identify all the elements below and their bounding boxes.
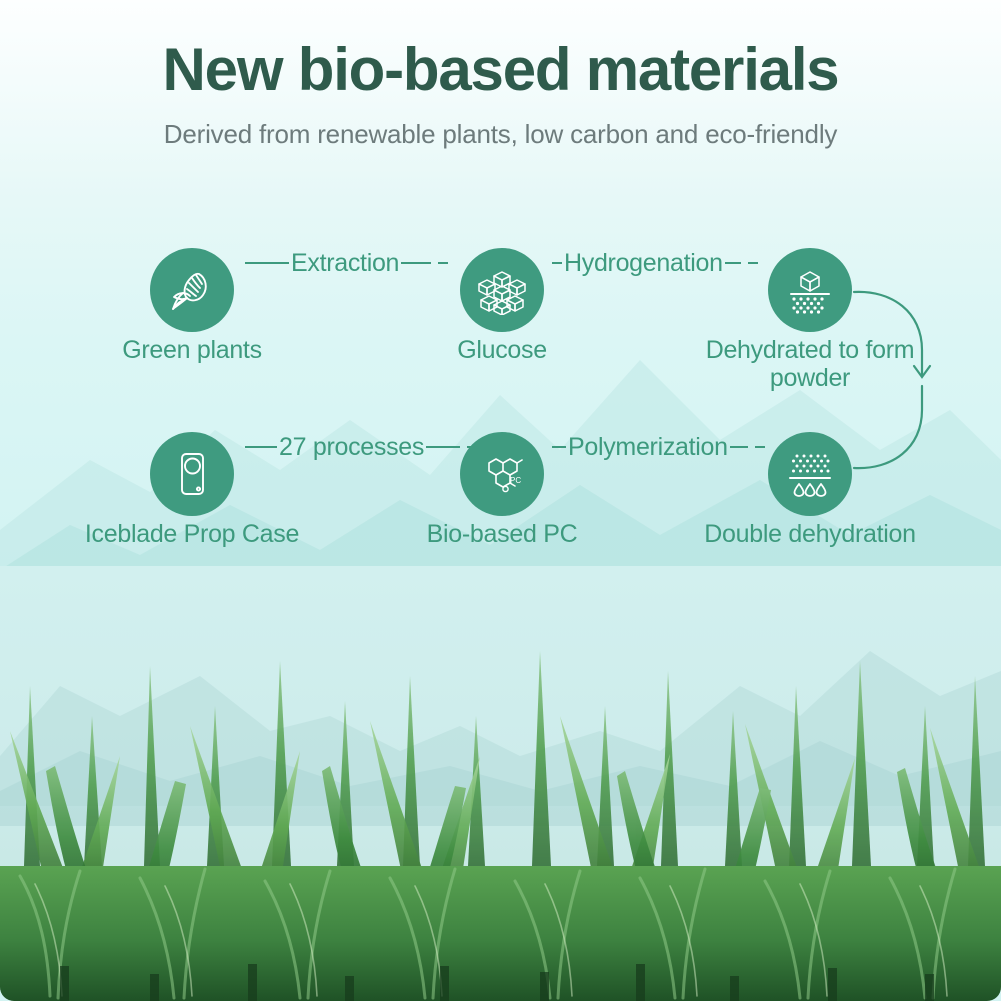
node-label: Green plants [122, 336, 262, 364]
flow-connector-extraction: Extraction [245, 248, 448, 278]
flow-connector-polymerization: Polymerization [552, 432, 765, 462]
connector-dash [438, 262, 448, 264]
connector-label: Hydrogenation [562, 249, 725, 278]
connector-line [401, 262, 431, 264]
svg-text:PC: PC [510, 476, 521, 485]
pc-molecule-icon: PC [477, 449, 527, 499]
flow-connector-processes: 27 processes [245, 432, 477, 462]
connector-label: 27 processes [277, 433, 426, 462]
sugar-cubes-icon [477, 265, 527, 315]
flow-node-iceblade-prop-case[interactable]: Iceblade Prop Case [150, 432, 234, 516]
sugarcane-illustration [0, 566, 1001, 1001]
connector-line [730, 446, 748, 448]
node-label: Dehydrated to form powder [695, 336, 925, 392]
node-label: Bio-based PC [427, 520, 578, 548]
connector-dash [755, 446, 765, 448]
flow-node-bio-based-pc[interactable]: PC Bio-based PC [460, 432, 544, 516]
corn-icon [166, 264, 218, 316]
sugarcane-field-photo [0, 566, 1001, 1001]
connector-dash [748, 262, 758, 264]
node-circle [150, 248, 234, 332]
node-circle [768, 248, 852, 332]
infographic-page: New bio-based materials Derived from ren… [0, 0, 1001, 1001]
connector-label: Extraction [289, 249, 401, 278]
node-circle [460, 248, 544, 332]
flow-node-double-dehydration[interactable]: Double dehydration [768, 432, 852, 516]
node-circle: PC [460, 432, 544, 516]
connector-line [245, 446, 277, 448]
connector-line [245, 262, 289, 264]
flow-connector-hydrogenation: Hydrogenation [552, 248, 758, 278]
cube-powder-icon [784, 264, 836, 316]
node-label: Iceblade Prop Case [85, 520, 299, 548]
flow-node-glucose[interactable]: Glucose [460, 248, 544, 332]
node-label: Double dehydration [704, 520, 915, 548]
connector-line [552, 262, 562, 264]
node-label: Glucose [457, 336, 547, 364]
droplet-powder-icon [784, 448, 836, 500]
phone-case-icon [167, 449, 217, 499]
connector-line [725, 262, 741, 264]
connector-label: Polymerization [566, 433, 730, 462]
node-circle [150, 432, 234, 516]
process-flow-diagram: Green plants Extraction [0, 0, 1001, 600]
flow-node-dehydrated-powder[interactable]: Dehydrated to form powder [768, 248, 852, 332]
flow-node-green-plants[interactable]: Green plants [150, 248, 234, 332]
connector-line [552, 446, 566, 448]
node-circle [768, 432, 852, 516]
connector-line [426, 446, 460, 448]
